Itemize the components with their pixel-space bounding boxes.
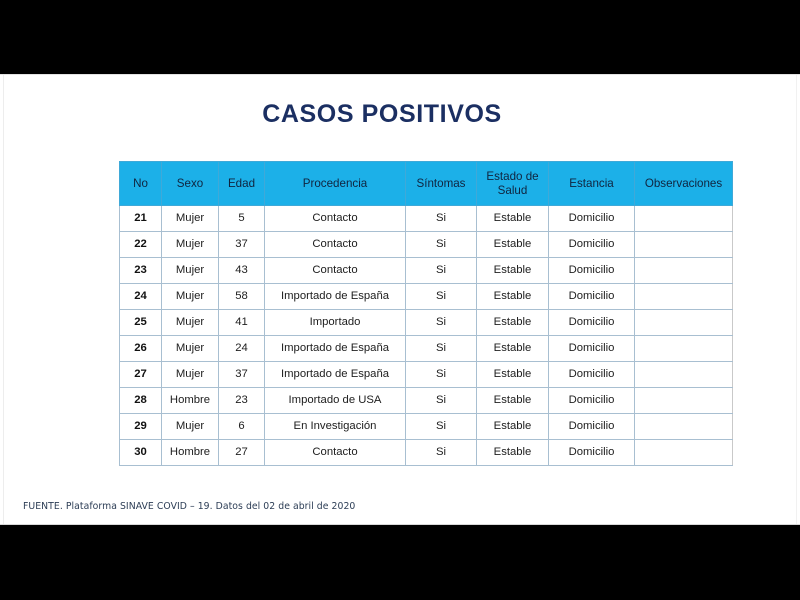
cell-estan: Domicilio (549, 258, 635, 284)
cell-sint: Si (406, 206, 477, 232)
cell-estan: Domicilio (549, 232, 635, 258)
cell-estado: Estable (477, 414, 549, 440)
cell-obs (635, 310, 733, 336)
cell-edad: 37 (219, 362, 265, 388)
cell-obs (635, 336, 733, 362)
cell-estan: Domicilio (549, 362, 635, 388)
cell-estado: Estable (477, 310, 549, 336)
table-body: 21Mujer5ContactoSiEstableDomicilio22Muje… (120, 206, 733, 466)
cell-edad: 27 (219, 440, 265, 466)
page-title: CASOS POSITIVOS (4, 100, 798, 129)
table-row: 29Mujer6En InvestigaciónSiEstableDomicil… (120, 414, 733, 440)
cell-no: 23 (120, 258, 162, 284)
column-header-sintomas[interactable]: Síntomas (406, 162, 477, 206)
cell-sexo: Mujer (162, 310, 219, 336)
cell-obs (635, 232, 733, 258)
cell-obs (635, 440, 733, 466)
cell-estan: Domicilio (549, 414, 635, 440)
cell-estado: Estable (477, 284, 549, 310)
cell-sint: Si (406, 284, 477, 310)
cell-edad: 6 (219, 414, 265, 440)
cell-no: 28 (120, 388, 162, 414)
cell-estado: Estable (477, 440, 549, 466)
cell-proc: Importado de España (265, 362, 406, 388)
column-header-edad[interactable]: Edad (219, 162, 265, 206)
cell-edad: 23 (219, 388, 265, 414)
cell-no: 21 (120, 206, 162, 232)
column-header-sexo[interactable]: Sexo (162, 162, 219, 206)
cell-sint: Si (406, 388, 477, 414)
cell-estado: Estable (477, 232, 549, 258)
column-header-no[interactable]: No (120, 162, 162, 206)
cell-estado: Estable (477, 206, 549, 232)
cell-obs (635, 284, 733, 310)
table-row: 28Hombre23Importado de USASiEstableDomic… (120, 388, 733, 414)
table-row: 22Mujer37ContactoSiEstableDomicilio (120, 232, 733, 258)
cell-sint: Si (406, 310, 477, 336)
table-row: 25Mujer41ImportadoSiEstableDomicilio (120, 310, 733, 336)
cell-estan: Domicilio (549, 388, 635, 414)
cell-obs (635, 362, 733, 388)
cell-sexo: Mujer (162, 232, 219, 258)
cell-obs (635, 388, 733, 414)
table-row: 27Mujer37Importado de EspañaSiEstableDom… (120, 362, 733, 388)
letterbox-bar-bottom (0, 525, 800, 600)
cell-sexo: Mujer (162, 206, 219, 232)
table-header: No Sexo Edad Procedencia Síntomas Estado… (120, 162, 733, 206)
cell-proc: Contacto (265, 206, 406, 232)
cell-estado: Estable (477, 362, 549, 388)
cell-no: 26 (120, 336, 162, 362)
column-header-estado-de-salud[interactable]: Estado de Salud (477, 162, 549, 206)
cell-no: 22 (120, 232, 162, 258)
cell-sint: Si (406, 414, 477, 440)
cell-edad: 37 (219, 232, 265, 258)
cell-obs (635, 206, 733, 232)
cell-sint: Si (406, 440, 477, 466)
cell-proc: Contacto (265, 232, 406, 258)
column-header-estancia[interactable]: Estancia (549, 162, 635, 206)
table-row: 23Mujer43ContactoSiEstableDomicilio (120, 258, 733, 284)
cell-estan: Domicilio (549, 310, 635, 336)
cell-proc: Contacto (265, 440, 406, 466)
cell-sexo: Mujer (162, 336, 219, 362)
cell-proc: Importado de España (265, 336, 406, 362)
table-row: 26Mujer24Importado de EspañaSiEstableDom… (120, 336, 733, 362)
cell-no: 25 (120, 310, 162, 336)
cell-sexo: Mujer (162, 362, 219, 388)
cell-obs (635, 258, 733, 284)
cell-estado: Estable (477, 388, 549, 414)
cell-edad: 5 (219, 206, 265, 232)
cell-obs (635, 414, 733, 440)
cell-estan: Domicilio (549, 206, 635, 232)
column-header-observaciones[interactable]: Observaciones (635, 162, 733, 206)
cell-sexo: Mujer (162, 284, 219, 310)
cell-no: 27 (120, 362, 162, 388)
slide-content-area: CASOS POSITIVOS No Sexo Edad Procedencia… (3, 75, 797, 524)
cell-edad: 43 (219, 258, 265, 284)
cell-sexo: Hombre (162, 440, 219, 466)
column-header-procedencia[interactable]: Procedencia (265, 162, 406, 206)
cell-sint: Si (406, 362, 477, 388)
cell-no: 30 (120, 440, 162, 466)
cell-proc: Importado (265, 310, 406, 336)
cell-sint: Si (406, 232, 477, 258)
cell-estan: Domicilio (549, 336, 635, 362)
table-header-row: No Sexo Edad Procedencia Síntomas Estado… (120, 162, 733, 206)
cell-sint: Si (406, 258, 477, 284)
cell-sexo: Hombre (162, 388, 219, 414)
cell-proc: Importado de USA (265, 388, 406, 414)
cell-estan: Domicilio (549, 284, 635, 310)
table-row: 21Mujer5ContactoSiEstableDomicilio (120, 206, 733, 232)
cell-edad: 58 (219, 284, 265, 310)
presentation-slide: CASOS POSITIVOS No Sexo Edad Procedencia… (0, 74, 800, 525)
cell-edad: 24 (219, 336, 265, 362)
cell-proc: Contacto (265, 258, 406, 284)
cell-estado: Estable (477, 258, 549, 284)
cell-no: 24 (120, 284, 162, 310)
cell-sint: Si (406, 336, 477, 362)
source-note: FUENTE. Plataforma SINAVE COVID – 19. Da… (23, 501, 355, 512)
casos-positivos-table: No Sexo Edad Procedencia Síntomas Estado… (119, 161, 733, 466)
cell-no: 29 (120, 414, 162, 440)
cell-proc: Importado de España (265, 284, 406, 310)
letterbox-bar-top (0, 0, 800, 74)
cell-estan: Domicilio (549, 440, 635, 466)
cell-proc: En Investigación (265, 414, 406, 440)
cell-sexo: Mujer (162, 258, 219, 284)
table-row: 24Mujer58Importado de EspañaSiEstableDom… (120, 284, 733, 310)
table-row: 30Hombre27ContactoSiEstableDomicilio (120, 440, 733, 466)
cell-sexo: Mujer (162, 414, 219, 440)
cell-edad: 41 (219, 310, 265, 336)
cell-estado: Estable (477, 336, 549, 362)
slide-viewport: CASOS POSITIVOS No Sexo Edad Procedencia… (0, 0, 800, 600)
